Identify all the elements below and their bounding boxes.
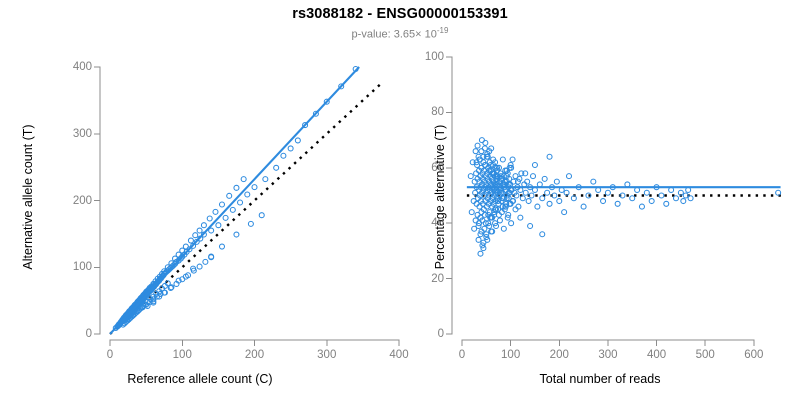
x-tick-label: 200 [245,349,264,361]
x-tick-label: 200 [550,349,569,361]
x-tick-label: 300 [598,349,617,361]
right-y-axis-title: Percentage alternative (T) [433,107,447,287]
scatter-points [468,138,780,257]
y-tick-label: 100 [412,51,444,63]
y-tick-label: 200 [60,195,92,207]
x-tick-label: 600 [744,349,763,361]
y-tick-label: 20 [412,273,444,285]
y-tick-label: 100 [60,261,92,273]
left-y-axis-title: Alternative allele count (T) [21,107,35,287]
y-tick-label: 40 [412,217,444,229]
figure-container: rs3088182 - ENSG00000153391 p-value: 3.6… [0,0,800,400]
y-tick-label: 400 [60,61,92,73]
fit-line [110,67,359,334]
panel-reference-vs-alternative: Reference allele count (C) Alternative a… [0,0,400,400]
x-tick-label: 0 [459,349,465,361]
x-tick-label: 300 [317,349,336,361]
x-tick-label: 100 [501,349,520,361]
y-tick-label: 300 [60,128,92,140]
y-tick-label: 80 [412,106,444,118]
panel-percentage-vs-depth: Total number of reads Percentage alterna… [400,0,800,400]
x-tick-label: 400 [647,349,666,361]
right-x-axis-title: Total number of reads [400,372,800,386]
x-tick-label: 0 [107,349,113,361]
y-tick-label: 0 [60,328,92,340]
x-tick-label: 100 [173,349,192,361]
right-plot-canvas [400,0,800,400]
y-tick-label: 0 [412,328,444,340]
left-x-axis-title: Reference allele count (C) [0,372,400,386]
y-tick-label: 60 [412,162,444,174]
x-tick-label: 500 [696,349,715,361]
